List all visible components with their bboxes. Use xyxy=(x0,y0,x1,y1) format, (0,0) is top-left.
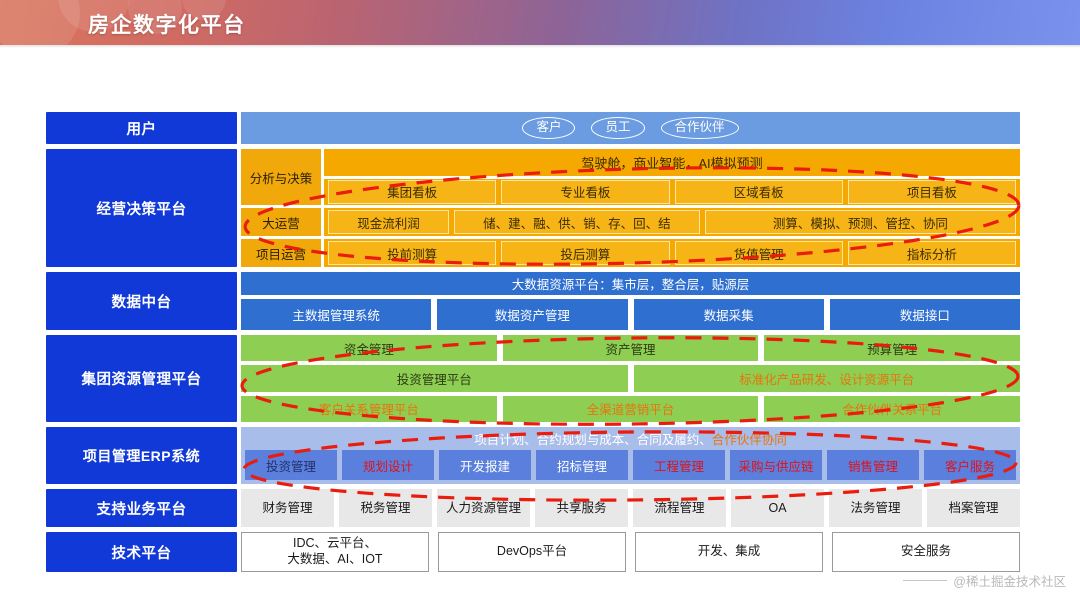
layer-data-platform: 数据中台 大数据资源平台：集市层，整合层，贴源层 主数据管理系统 数据资产管理 … xyxy=(46,272,1020,330)
support-cell-oa[interactable]: OA xyxy=(731,489,824,527)
tech-cell-security[interactable]: 安全服务 xyxy=(832,532,1020,572)
sidebar-item-label: 经营决策平台 xyxy=(97,198,187,219)
sidebar-item-erp-system[interactable]: 项目管理ERP系统 xyxy=(46,427,237,484)
decision-row-analysis: 分析与决策 驾驶舱，商业智能，AI模拟预测 集团看板 专业看板 区域看板 项目看… xyxy=(241,149,1020,205)
support-cell-shared-services[interactable]: 共享服务 xyxy=(535,489,628,527)
sidebar-item-label: 集团资源管理平台 xyxy=(82,368,202,389)
sidebar-item-label: 数据中台 xyxy=(112,291,172,312)
project-ops-cell-pre-investment[interactable]: 投前测算 xyxy=(328,241,496,265)
resource-cell-crm-platform[interactable]: 客户关系管理平台 xyxy=(241,396,497,422)
erp-cell-development-approval[interactable]: 开发报建 xyxy=(439,450,531,480)
header-divider xyxy=(0,45,1080,48)
resource-cell-omnichannel-marketing[interactable]: 全渠道营销平台 xyxy=(503,396,759,422)
watermark-text: @稀土掘金技术社区 xyxy=(953,571,1066,590)
layer-user: 用户 客户 员工 合作伙伴 xyxy=(46,112,1020,144)
sidebar-item-data-platform[interactable]: 数据中台 xyxy=(46,272,237,330)
decision-row-tag: 分析与决策 xyxy=(241,149,321,205)
erp-banner-highlight: 合作伙伴协同 xyxy=(712,429,787,448)
sidebar-item-label: 支持业务平台 xyxy=(97,498,187,519)
layer-tech-platform: 技术平台 IDC、云平台、 大数据、AI、IOT DevOps平台 开发、集成 … xyxy=(46,532,1020,572)
support-cell-tax[interactable]: 税务管理 xyxy=(339,489,432,527)
watermark: @稀土掘金技术社区 xyxy=(903,571,1066,590)
sidebar-item-decision-platform[interactable]: 经营决策平台 xyxy=(46,149,237,267)
architecture-diagram: 用户 客户 员工 合作伙伴 经营决策平台 分析与决策 驾驶舱，商业智能，AI模拟… xyxy=(46,112,1020,572)
decision-row-operations: 大运营 现金流利润 储、建、融、供、销、存、回、结 测算、模拟、预测、管控、协同 xyxy=(241,208,1020,236)
decision-cell-professional-board[interactable]: 专业看板 xyxy=(501,180,669,204)
decision-cell-regional-board[interactable]: 区域看板 xyxy=(675,180,843,204)
erp-cell-investment-management[interactable]: 投资管理 xyxy=(245,450,337,480)
operations-cell-forecast-control[interactable]: 测算、模拟、预测、管控、协同 xyxy=(705,210,1016,234)
resource-cell-standard-product-rd[interactable]: 标准化产品研发、设计资源平台 xyxy=(634,365,1021,391)
layer-support-platform: 支持业务平台 财务管理 税务管理 人力资源管理 共享服务 流程管理 OA 法务管… xyxy=(46,489,1020,527)
project-ops-cell-post-investment[interactable]: 投后测算 xyxy=(501,241,669,265)
tech-cell-devops[interactable]: DevOps平台 xyxy=(438,532,626,572)
tech-cell-line2: 大数据、AI、IOT xyxy=(287,552,382,566)
sidebar-item-support-platform[interactable]: 支持业务平台 xyxy=(46,489,237,527)
data-cell-interface[interactable]: 数据接口 xyxy=(830,299,1020,330)
resource-cell-fund-management[interactable]: 资金管理 xyxy=(241,335,497,361)
project-ops-cell-value-management[interactable]: 货值管理 xyxy=(675,241,843,265)
decision-row-tag: 大运营 xyxy=(241,208,321,236)
decision-row-tag: 项目运营 xyxy=(241,239,321,267)
layer-group-resource: 集团资源管理平台 资金管理 资产管理 预算管理 投资管理平台 标准化产品研发、设… xyxy=(46,335,1020,422)
erp-cell-sales-management[interactable]: 销售管理 xyxy=(827,450,919,480)
decision-row-project-operations: 项目运营 投前测算 投后测算 货值管理 指标分析 xyxy=(241,239,1020,267)
data-platform-banner: 大数据资源平台：集市层，整合层，贴源层 xyxy=(241,272,1020,295)
sidebar-item-tech-platform[interactable]: 技术平台 xyxy=(46,532,237,572)
user-chip-partner[interactable]: 合作伙伴 xyxy=(661,117,739,139)
data-cell-master-data[interactable]: 主数据管理系统 xyxy=(241,299,431,330)
erp-banner: 项目计划、合约规划与成本、合同及履约、合作伙伴协同 xyxy=(241,427,1020,450)
tech-cell-line1: IDC、云平台、 xyxy=(293,536,377,550)
data-cell-collection[interactable]: 数据采集 xyxy=(634,299,824,330)
decision-cell-project-board[interactable]: 项目看板 xyxy=(848,180,1016,204)
erp-cell-customer-service[interactable]: 客户服务 xyxy=(924,450,1016,480)
page-title: 房企数字化平台 xyxy=(88,9,246,39)
support-cell-legal[interactable]: 法务管理 xyxy=(829,489,922,527)
user-chip-bar: 客户 员工 合作伙伴 xyxy=(241,112,1020,144)
resource-cell-asset-management[interactable]: 资产管理 xyxy=(503,335,759,361)
data-cell-asset-management[interactable]: 数据资产管理 xyxy=(437,299,627,330)
tech-cell-infrastructure[interactable]: IDC、云平台、 大数据、AI、IOT xyxy=(241,532,429,572)
sidebar-item-group-resource[interactable]: 集团资源管理平台 xyxy=(46,335,237,422)
resource-cell-partner-relationship[interactable]: 合作伙伴关系平台 xyxy=(764,396,1020,422)
decision-banner-analysis: 驾驶舱，商业智能，AI模拟预测 xyxy=(324,149,1020,176)
resource-cell-budget-management[interactable]: 预算管理 xyxy=(764,335,1020,361)
layer-decision-platform: 经营决策平台 分析与决策 驾驶舱，商业智能，AI模拟预测 集团看板 专业看板 区… xyxy=(46,149,1020,267)
user-chip-employee[interactable]: 员工 xyxy=(591,117,644,139)
sidebar-item-label: 用户 xyxy=(127,118,157,139)
app-header: 房企数字化平台 xyxy=(0,0,1080,45)
operations-cell-cashflow-profit[interactable]: 现金流利润 xyxy=(328,210,449,234)
erp-cell-bidding-management[interactable]: 招标管理 xyxy=(536,450,628,480)
layer-erp-system: 项目管理ERP系统 项目计划、合约规划与成本、合同及履约、合作伙伴协同 投资管理… xyxy=(46,427,1020,484)
support-cell-archive[interactable]: 档案管理 xyxy=(927,489,1020,527)
project-ops-cell-metrics-analysis[interactable]: 指标分析 xyxy=(848,241,1016,265)
sidebar-item-label: 项目管理ERP系统 xyxy=(83,446,200,466)
watermark-line xyxy=(903,580,947,581)
erp-cell-procurement-supply-chain[interactable]: 采购与供应链 xyxy=(730,450,822,480)
erp-cell-engineering-management[interactable]: 工程管理 xyxy=(633,450,725,480)
support-cell-finance[interactable]: 财务管理 xyxy=(241,489,334,527)
user-chip-customer[interactable]: 客户 xyxy=(522,117,575,139)
decision-cell-group-board[interactable]: 集团看板 xyxy=(328,180,496,204)
erp-banner-main: 项目计划、合约规划与成本、合同及履约、 xyxy=(474,429,712,448)
operations-cell-value-chain[interactable]: 储、建、融、供、销、存、回、结 xyxy=(454,210,700,234)
tech-cell-dev-integration[interactable]: 开发、集成 xyxy=(635,532,823,572)
support-cell-hr[interactable]: 人力资源管理 xyxy=(437,489,530,527)
resource-cell-investment-platform[interactable]: 投资管理平台 xyxy=(241,365,628,391)
sidebar-item-user[interactable]: 用户 xyxy=(46,112,237,144)
erp-cell-planning-design[interactable]: 规划设计 xyxy=(342,450,434,480)
support-cell-process[interactable]: 流程管理 xyxy=(633,489,726,527)
sidebar-item-label: 技术平台 xyxy=(112,542,172,563)
